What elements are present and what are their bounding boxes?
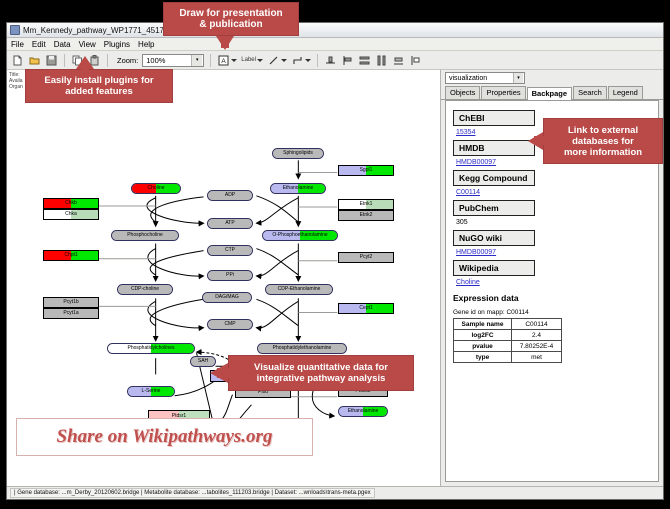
metabolite-node-phosphatidylethanolamine[interactable]: Phosphatidylethanolamine	[257, 343, 347, 354]
table-row: typemet	[454, 352, 562, 363]
node-label: Chka	[65, 212, 77, 217]
svg-text:A: A	[222, 58, 227, 65]
node-label: Chkb	[65, 201, 77, 206]
connector-icon[interactable]	[291, 54, 304, 67]
backpage-header-nugo-wiki: NuGO wiki	[453, 230, 535, 246]
callout-link-external-db: Link to external databases for more info…	[543, 118, 663, 164]
node-label: CDP-choline	[131, 287, 159, 292]
backpage-header-chebi: ChEBI	[453, 110, 535, 126]
menu-edit[interactable]: Edit	[32, 40, 46, 49]
zoom-value: 100%	[146, 56, 165, 65]
node-label: ADP	[225, 193, 235, 198]
callout-plugins-line1: Easily install plugins for	[44, 75, 153, 86]
backpage-link-nugo-wiki[interactable]: HMDB00097	[456, 249, 651, 256]
node-label: Cept1	[359, 306, 372, 311]
node-label: Phosphatidylethanolamine	[273, 346, 332, 351]
table-cell-key: Sample name	[454, 319, 512, 330]
label-tool[interactable]: Label	[241, 57, 263, 63]
main-toolbar: Zoom: 100% ▾ A Label	[7, 51, 663, 70]
node-label: O-Phosphoethanolamine	[272, 233, 327, 238]
node-label: L-Serine	[142, 389, 161, 394]
node-label: DAG/MAG	[215, 295, 239, 300]
callout-link-line2: databases for	[564, 136, 642, 147]
table-row: Sample nameC00114	[454, 319, 562, 330]
tab-search[interactable]: Search	[573, 86, 607, 99]
node-label: CTP	[225, 248, 235, 253]
table-cell-key: type	[454, 352, 512, 363]
callout-install-plugins: Easily install plugins for added feature…	[25, 69, 173, 103]
gene-node-pcyt1a[interactable]: Pcyt1a	[43, 308, 99, 319]
callout-visualize-data: Visualize quantitative data for integrat…	[228, 355, 414, 391]
screenshot-root: Mm_Kennedy_pathway_WP1771_45176.gpml Fil…	[0, 0, 670, 509]
toolbar-separator	[107, 54, 108, 67]
callout-link-line1: Link to external	[564, 125, 642, 136]
metabolite-node-ethanolamine[interactable]: Ethanolamine	[270, 183, 326, 194]
callout-visualize-stem	[217, 368, 230, 378]
metabolite-node-dagmag[interactable]: DAG/MAG	[202, 292, 252, 303]
metabolite-node-phosphatidylcholines[interactable]: Phosphatidylcholines	[107, 343, 195, 354]
table-cell-key: log2FC	[454, 330, 512, 341]
callout-plugins-stem	[81, 62, 89, 71]
menu-plugins[interactable]: Plugins	[104, 40, 130, 49]
visualization-value: visualization	[449, 75, 487, 82]
zoom-combobox[interactable]: 100% ▾	[142, 54, 204, 67]
node-label: Phosphocholine	[127, 233, 163, 238]
callout-visualize-line1: Visualize quantitative data for	[254, 362, 388, 373]
node-label: Chpt1	[64, 253, 77, 258]
metabolite-node-phosphocholine[interactable]: Phosphocholine	[111, 230, 179, 241]
backpage-link-kegg-compound[interactable]: C00114	[456, 189, 651, 196]
menu-help[interactable]: Help	[138, 40, 154, 49]
toolbar-separator	[64, 54, 65, 67]
menu-file[interactable]: File	[11, 40, 24, 49]
share-wikipathways-banner: Share on Wikipathways.org	[16, 418, 313, 456]
gene-node-etnk2[interactable]: Etnk2	[338, 210, 394, 221]
node-label: PPi	[226, 273, 234, 278]
metabolite-node-cmp[interactable]: CMP	[207, 319, 253, 330]
table-cell-value: met	[512, 352, 562, 363]
node-label: SAH	[198, 359, 208, 364]
status-text: | Gene database: ...m_Derby_20120602.bri…	[10, 488, 375, 498]
side-panel-tabs: Objects Properties Backpage Search Legen…	[441, 86, 663, 100]
metabolite-node-atp[interactable]: ATP	[207, 218, 253, 229]
backpage-header-kegg-compound: Kegg Compound	[453, 170, 535, 186]
chevron-down-icon[interactable]: ▾	[191, 55, 202, 66]
node-label: CMP	[224, 322, 235, 327]
expression-data-title: Expression data	[453, 293, 651, 303]
callout-link-stem	[534, 136, 545, 145]
node-label: Choline	[148, 186, 165, 191]
align-top-icon[interactable]	[324, 54, 337, 67]
gene-node-etnk1[interactable]: Etnk1	[338, 199, 394, 210]
callout-link-line3: more information	[564, 147, 642, 158]
callout-plugins-line2: added features	[44, 86, 153, 97]
stack-icon[interactable]	[392, 54, 405, 67]
window-title-bar: Mm_Kennedy_pathway_WP1771_45176.gpml	[7, 23, 663, 38]
connector-tool[interactable]	[291, 54, 311, 67]
chevron-down-icon[interactable]	[257, 59, 263, 62]
toolbar-separator	[210, 54, 211, 67]
node-label: Sgpl1	[360, 168, 373, 173]
line-icon[interactable]	[267, 54, 280, 67]
metabolite-node-l-serine-left[interactable]: L-Serine	[127, 386, 175, 397]
table-cell-value: 2.4	[512, 330, 562, 341]
share-wikipathways-text: Share on Wikipathways.org	[57, 426, 273, 448]
table-row: pvalue7.80252E-4	[454, 341, 562, 352]
node-label: CDP-Ethanolamine	[278, 287, 321, 292]
chevron-down-icon[interactable]	[281, 59, 287, 62]
gene-node-cept1[interactable]: Cept1	[338, 303, 394, 314]
toolbar-separator	[317, 54, 318, 67]
node-label: Phosphatidylcholines	[128, 346, 175, 351]
table-cell-value: 7.80252E-4	[512, 341, 562, 352]
gene-id-line: Gene id on mapp: C00114	[453, 309, 651, 316]
menu-view[interactable]: View	[79, 40, 96, 49]
table-cell-key: pvalue	[454, 341, 512, 352]
metabolite-node-cdp-ethanolamine[interactable]: CDP-Ethanolamine	[265, 284, 333, 295]
node-label: Sphingolipids	[283, 151, 313, 156]
chevron-down-icon[interactable]: ▾	[513, 73, 523, 83]
gene-node-chpt1[interactable]: Chpt1	[43, 250, 99, 261]
text-label-icon[interactable]: A	[217, 54, 230, 67]
save-icon[interactable]	[45, 54, 58, 67]
chevron-down-icon[interactable]	[305, 59, 311, 62]
tab-legend[interactable]: Legend	[608, 86, 643, 99]
expression-data-table: Sample nameC00114log2FC2.4pvalue7.80252E…	[453, 318, 562, 363]
backpage-header-pubchem: PubChem	[453, 200, 535, 216]
zoom-label: Zoom:	[117, 56, 138, 65]
menu-data[interactable]: Data	[54, 40, 71, 49]
backpage-value-pubchem: 305	[456, 219, 651, 226]
group-icon[interactable]	[409, 54, 422, 67]
label-tool-text: Label	[241, 57, 256, 63]
gene-node-chka[interactable]: Chka	[43, 209, 99, 220]
node-label: Pcyt2	[360, 255, 373, 260]
gene-node-pcyt2[interactable]: Pcyt2	[338, 252, 394, 263]
metabolite-node-ppi[interactable]: PPi	[207, 270, 253, 281]
metabolite-node-sphingolipids[interactable]: Sphingolipids	[272, 148, 324, 159]
metabolite-node-adp[interactable]: ADP	[207, 190, 253, 201]
callout-draw-line1: Draw for presentation	[179, 8, 282, 19]
visualization-row: visualization ▾	[441, 70, 663, 86]
node-label: Pcyt1a	[63, 311, 78, 316]
distribute-vertical-icon[interactable]	[358, 54, 371, 67]
tab-properties[interactable]: Properties	[481, 86, 525, 99]
callout-visualize-line2: integrative pathway analysis	[254, 373, 388, 384]
metabolite-node-ctp[interactable]: CTP	[207, 245, 253, 256]
text-label-tool[interactable]: A	[217, 54, 237, 67]
callout-draw-for-publication: Draw for presentation & publication	[163, 2, 299, 36]
metabolite-node-ethanolamine-right[interactable]: Ethanolamine	[338, 406, 388, 417]
backpage-header-wikipedia: Wikipedia	[453, 260, 535, 276]
node-label: Etnk2	[360, 213, 373, 218]
distribute-horizontal-icon[interactable]	[375, 54, 388, 67]
node-label: Ethanolamine	[283, 186, 314, 191]
visualization-select[interactable]: visualization ▾	[445, 72, 525, 84]
node-label: Etnk1	[360, 202, 373, 207]
backpage-header-hmdb: HMDB	[453, 140, 535, 156]
table-row: log2FC2.4	[454, 330, 562, 341]
callout-draw-line2: & publication	[179, 19, 282, 30]
metabolite-node-choline-top[interactable]: Choline	[131, 183, 181, 194]
gene-node-sgpl1[interactable]: Sgpl1	[338, 165, 394, 176]
gene-node-chkb[interactable]: Chkb	[43, 198, 99, 209]
menu-bar: File Edit Data View Plugins Help	[7, 38, 663, 51]
open-folder-icon[interactable]	[28, 54, 41, 67]
metabolite-node-cdp-choline[interactable]: CDP-choline	[117, 284, 173, 295]
backpage-link-wikipedia[interactable]: Choline	[456, 279, 651, 286]
pathvisio-icon	[10, 25, 20, 35]
line-tool[interactable]	[267, 54, 287, 67]
table-cell-value: C00114	[512, 319, 562, 330]
metabolite-node-o-phosphoethanolamine[interactable]: O-Phosphoethanolamine	[262, 230, 338, 241]
chevron-down-icon[interactable]	[231, 59, 237, 62]
node-label: Ethanolamine	[348, 409, 379, 414]
node-label: Pcyt1b	[63, 300, 78, 305]
node-label: ATP	[225, 221, 234, 226]
new-file-icon[interactable]	[11, 54, 24, 67]
align-left-icon[interactable]	[341, 54, 354, 67]
callout-draw-arrow	[216, 36, 234, 50]
tab-objects[interactable]: Objects	[445, 86, 480, 99]
gene-node-pcyt1b[interactable]: Pcyt1b	[43, 297, 99, 308]
status-bar: | Gene database: ...m_Derby_20120602.bri…	[7, 486, 663, 499]
tab-backpage[interactable]: Backpage	[527, 87, 572, 100]
